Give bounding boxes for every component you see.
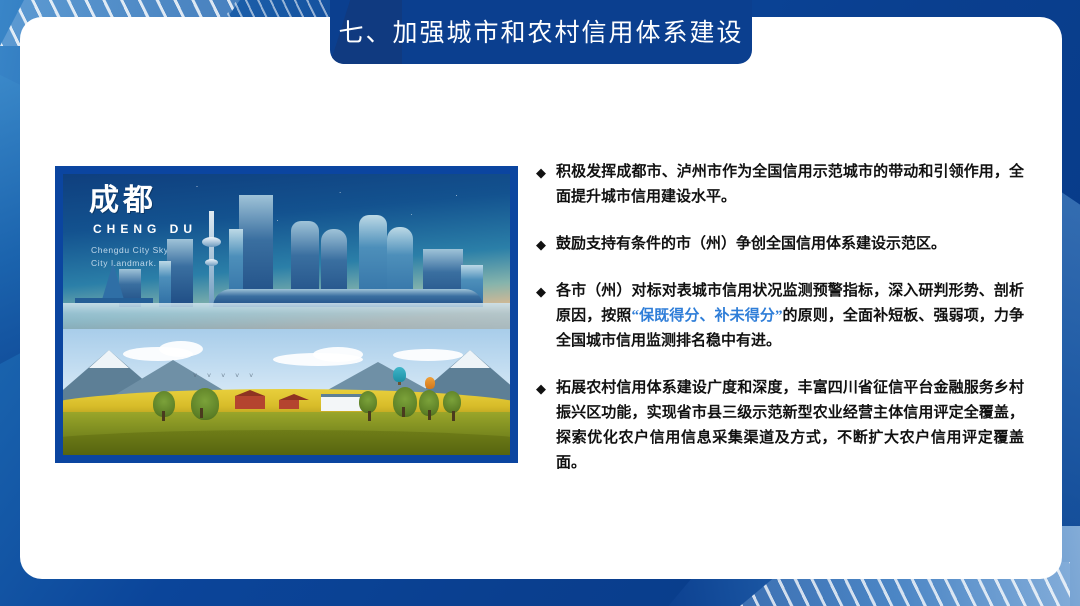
chengdu-logo-cn: 成都 xyxy=(89,186,157,216)
bullet-diamond-icon: ◆ xyxy=(536,279,556,304)
bullet-item: ◆各市（州）对标对表城市信用状况监测预警指标，深入研判形势、剖析原因，按照“保既… xyxy=(536,279,1024,354)
red-barn-2 xyxy=(279,400,299,409)
tree-5 xyxy=(419,390,439,416)
birds-flock: ˅ ˅ ˅ ˅ ˅ xyxy=(193,373,257,380)
bullet-text-segment: 拓展农村信用体系建设广度和深度，丰富四川省征信平台金融服务乡村振兴区功能，实现省… xyxy=(556,380,1024,471)
page-title: 七、加强城市和农村信用体系建设 xyxy=(338,13,743,51)
bullet-diamond-icon: ◆ xyxy=(536,160,556,185)
illustration-frame: 成都 CHENG DU Chengdu City Skyline. City L… xyxy=(55,166,518,463)
bullet-text-segment: 积极发挥成都市、泸州市作为全国信用示范城市的带动和引领作用，全面提升城市信用建设… xyxy=(556,164,1024,205)
green-field-foreground xyxy=(63,430,510,455)
illustration-inner: 成都 CHENG DU Chengdu City Skyline. City L… xyxy=(63,174,510,455)
balloon-teal xyxy=(393,367,406,382)
countryside-image: ˅ ˅ ˅ ˅ ˅ xyxy=(63,329,510,455)
tree-1 xyxy=(153,391,175,417)
tree-6 xyxy=(443,391,461,413)
chengdu-logo-en: CHENG DU xyxy=(93,222,197,236)
bullet-text: 各市（州）对标对表城市信用状况监测预警指标，深入研判形势、剖析原因，按照“保既得… xyxy=(556,279,1024,354)
bullet-diamond-icon: ◆ xyxy=(536,376,556,401)
bullet-text: 拓展农村信用体系建设广度和深度，丰富四川省征信平台金融服务乡村振兴区功能，实现省… xyxy=(556,376,1024,476)
bullet-text: 积极发挥成都市、泸州市作为全国信用示范城市的带动和引领作用，全面提升城市信用建设… xyxy=(556,160,1024,210)
tree-4 xyxy=(393,387,417,417)
bullet-text: 鼓励支持有条件的市（州）争创全国信用体系建设示范区。 xyxy=(556,232,1024,257)
presentation-slide: 七、加强城市和农村信用体系建设 成都 CHENG DU Chengdu City… xyxy=(0,0,1080,606)
chengdu-skyline-image: 成都 CHENG DU Chengdu City Skyline. City L… xyxy=(63,174,510,329)
balloon-orange xyxy=(425,377,435,389)
red-barn xyxy=(235,396,265,409)
cloud-4 xyxy=(313,347,363,362)
bullet-diamond-icon: ◆ xyxy=(536,232,556,257)
bullet-text-highlight: “保既得分、补未得分” xyxy=(631,308,782,324)
bridge-pylon xyxy=(101,263,125,303)
bullet-text-segment: 鼓励支持有条件的市（州）争创全国信用体系建设示范区。 xyxy=(556,236,946,252)
tree-3 xyxy=(359,391,377,413)
mountain-right-snowcap xyxy=(450,350,490,368)
bullet-list: ◆积极发挥成都市、泸州市作为全国信用示范城市的带动和引领作用，全面提升城市信用建… xyxy=(536,160,1024,476)
bullet-item: ◆拓展农村信用体系建设广度和深度，丰富四川省征信平台金融服务乡村振兴区功能，实现… xyxy=(536,376,1024,476)
river-reflection xyxy=(63,303,510,329)
tv-tower xyxy=(209,211,214,307)
anshun-bridge xyxy=(75,259,153,303)
bullet-item: ◆鼓励支持有条件的市（州）争创全国信用体系建设示范区。 xyxy=(536,232,1024,257)
tree-2 xyxy=(191,388,219,420)
bullet-item: ◆积极发挥成都市、泸州市作为全国信用示范城市的带动和引领作用，全面提升城市信用建… xyxy=(536,160,1024,210)
slide-title-banner: 七、加强城市和农村信用体系建设 xyxy=(330,0,752,64)
building-02 xyxy=(159,261,171,307)
